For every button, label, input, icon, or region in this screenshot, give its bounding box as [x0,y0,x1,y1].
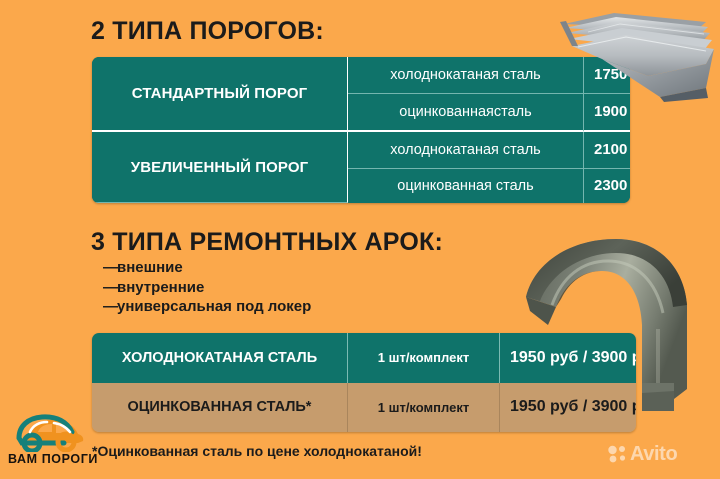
list-item-label: универсальная под локер [117,297,311,317]
sill-group-name: СТАНДАРТНЫЙ ПОРОГ [92,57,348,132]
metal-sill-photo [556,2,720,102]
dash-icon: — [103,278,117,298]
avito-watermark: Avito [607,444,677,464]
dash-icon: — [103,258,117,278]
car-icon [14,414,86,452]
table-row: УВЕЛИЧЕННЫЙ ПОРОГ холоднокатаная сталь 2… [92,132,630,169]
table-row: СТАНДАРТНЫЙ ПОРОГ холоднокатаная сталь 1… [92,57,630,94]
sill-price: 2300 руб [584,169,630,203]
arch-types-list: — внешние — внутренние — универсальная п… [103,258,433,317]
wheel-arch-photo [524,233,720,418]
sill-price: 2100 руб [584,132,630,169]
sill-material: холоднокатаная сталь [348,57,584,94]
avito-label: Avito [630,444,677,464]
sill-material: оцинкованная сталь [348,169,584,203]
promo-poster: 2 ТИПА ПОРОГОВ: СТАНДАРТНЫЙ ПОРОГ холодн… [0,0,720,479]
list-item: — внутренние [103,278,433,298]
list-item-label: внутренние [117,278,204,298]
sill-group-name: УВЕЛИЧЕННЫЙ ПОРОГ [92,132,348,203]
list-item: — внешние [103,258,433,278]
brand-logo: ВАМ ПОРОГИ [8,414,94,472]
dash-icon: — [103,297,117,317]
sills-price-table: СТАНДАРТНЫЙ ПОРОГ холоднокатаная сталь 1… [92,57,630,203]
arch-material: ХОЛОДНОКАТАНАЯ СТАЛЬ [92,333,348,383]
arch-quantity: 1 шт/комплект [348,383,500,433]
list-item: — универсальная под локер [103,297,433,317]
sill-material: холоднокатаная сталь [348,132,584,169]
sill-material: оцинкованнаясталь [348,94,584,133]
avito-dots-icon [607,445,627,463]
brand-logo-text: ВАМ ПОРОГИ [8,452,94,466]
arch-material: ОЦИНКОВАННАЯ СТАЛЬ* [92,383,348,433]
arches-section-heading: 3 ТИПА РЕМОНТНЫХ АРОК: [91,228,443,257]
footnote-text: *Оцинкованная сталь по цене холоднокатан… [92,443,422,459]
arch-quantity: 1 шт/комплект [348,333,500,383]
list-item-label: внешние [117,258,183,278]
sills-section-heading: 2 ТИПА ПОРОГОВ: [91,17,324,46]
